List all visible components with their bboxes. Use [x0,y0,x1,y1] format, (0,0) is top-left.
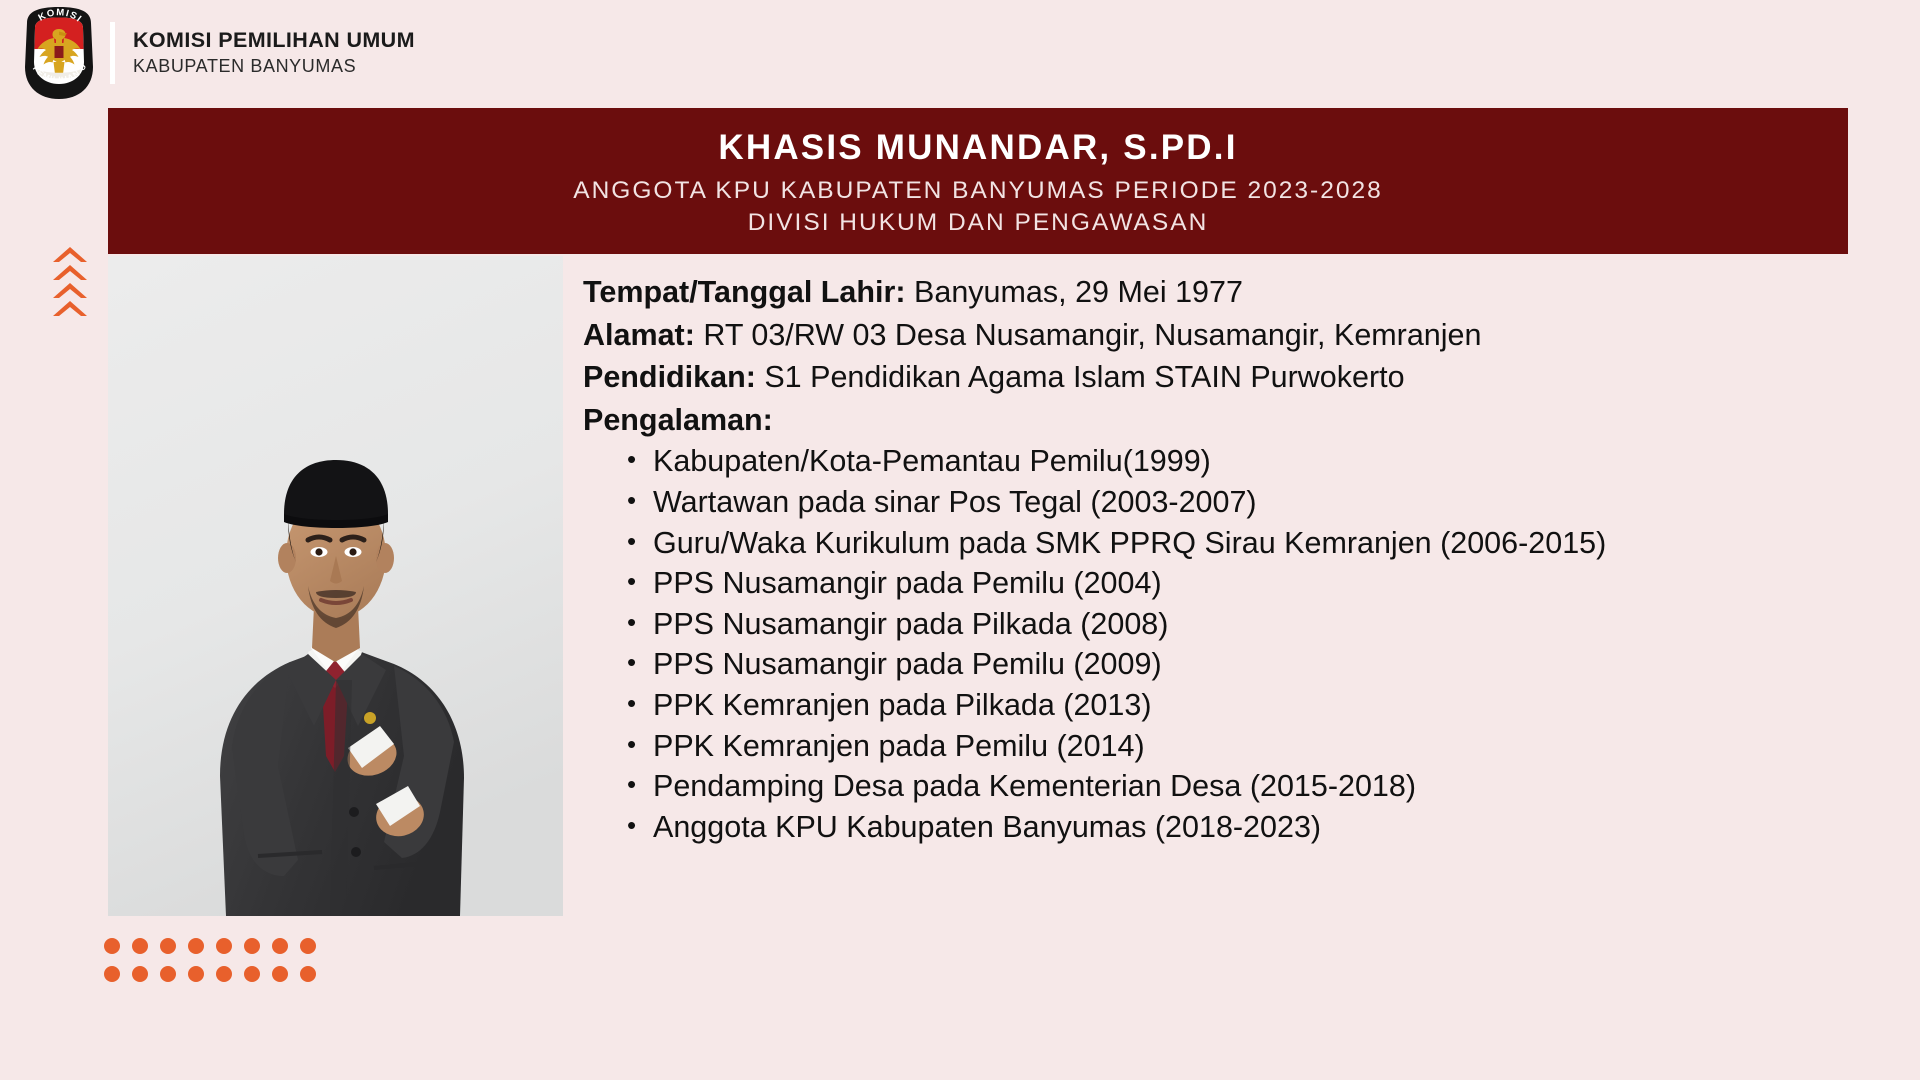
dot [300,966,316,982]
person-name: KHASIS MUNANDAR, S.PD.I [718,128,1237,168]
experience-item: Pendamping Desa pada Kementerian Desa (2… [583,767,1773,807]
experience-item: Wartawan pada sinar Pos Tegal (2003-2007… [583,483,1773,523]
experience-label: Pengalaman: [583,400,1803,441]
dot [216,938,232,954]
address-line: Alamat: RT 03/RW 03 Desa Nusamangir, Nus… [583,315,1803,356]
header-text-block: KOMISI PEMILIHAN UMUM KABUPATEN BANYUMAS [133,27,415,78]
education-label: Pendidikan: [583,360,756,394]
birth-label: Tempat/Tanggal Lahir: [583,275,906,309]
experience-item: PPS Nusamangir pada Pemilu (2004) [583,564,1773,604]
dot-grid-decoration-icon [104,938,328,994]
dot [132,966,148,982]
dot [160,938,176,954]
experience-item: PPK Kemranjen pada Pilkada (2013) [583,686,1773,726]
experience-list: Kabupaten/Kota-Pemantau Pemilu(1999)Wart… [583,442,1803,847]
kpu-garuda-logo-icon: KOMISI PEMILIHAN UMUM [14,5,104,101]
header: KOMISI PEMILIHAN UMUM KOMISI PEMILIHAN U… [0,0,620,105]
dot [104,966,120,982]
dot [300,938,316,954]
education-value: S1 Pendidikan Agama Islam STAIN Purwoker… [764,360,1404,394]
address-value: RT 03/RW 03 Desa Nusamangir, Nusamangir,… [703,318,1481,352]
experience-item: PPS Nusamangir pada Pemilu (2009) [583,645,1773,685]
birth-value: Banyumas, 29 Mei 1977 [914,275,1243,309]
dot [160,966,176,982]
dot [244,966,260,982]
organization-name: KOMISI PEMILIHAN UMUM [133,27,415,54]
person-position: ANGGOTA KPU KABUPATEN BANYUMAS PERIODE 2… [573,175,1382,206]
person-photo [108,256,563,916]
organization-region: KABUPATEN BANYUMAS [133,54,415,78]
dot [188,966,204,982]
profile-slide: KOMISI PEMILIHAN UMUM KOMISI PEMILIHAN U… [0,0,1920,1080]
experience-item: Anggota KPU Kabupaten Banyumas (2018-202… [583,808,1773,848]
title-banner: KHASIS MUNANDAR, S.PD.I ANGGOTA KPU KABU… [108,108,1848,254]
dot [244,938,260,954]
dot [188,938,204,954]
experience-item: Guru/Waka Kurikulum pada SMK PPRQ Sirau … [583,524,1773,564]
experience-item: Kabupaten/Kota-Pemantau Pemilu(1999) [583,442,1773,482]
experience-item: PPK Kemranjen pada Pemilu (2014) [583,727,1773,767]
education-line: Pendidikan: S1 Pendidikan Agama Islam ST… [583,357,1803,398]
address-label: Alamat: [583,318,695,352]
chevron-decoration-icon [53,247,87,333]
dot [104,938,120,954]
header-divider [110,22,115,84]
dot [132,938,148,954]
dot [216,966,232,982]
dot [272,938,288,954]
experience-item: PPS Nusamangir pada Pilkada (2008) [583,605,1773,645]
dot [272,966,288,982]
birth-line: Tempat/Tanggal Lahir: Banyumas, 29 Mei 1… [583,272,1803,313]
biography-panel: Tempat/Tanggal Lahir: Banyumas, 29 Mei 1… [583,272,1803,849]
person-division: DIVISI HUKUM DAN PENGAWASAN [748,207,1209,238]
